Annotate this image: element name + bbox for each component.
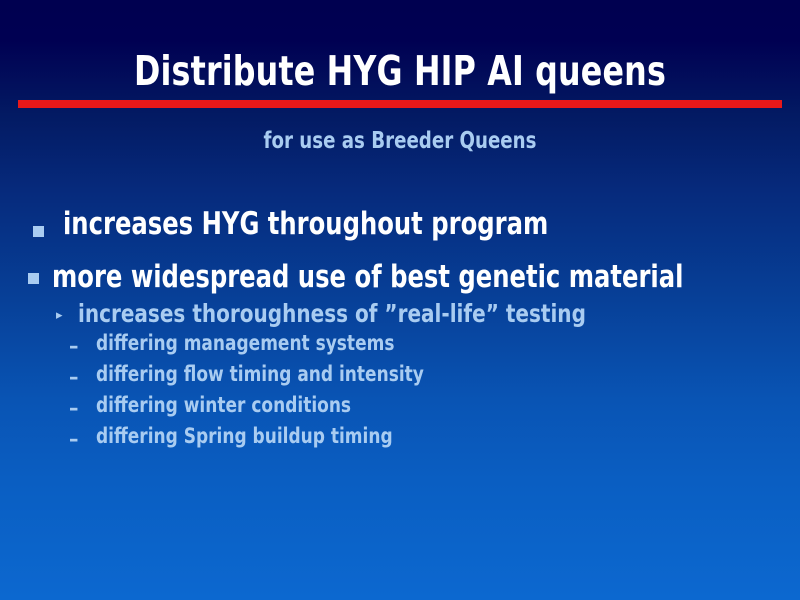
en-dash-bullet-icon: – [69,396,78,420]
en-dash-bullet-icon: – [69,427,78,451]
list-item-label: differing flow timing and intensity [96,362,424,386]
square-bullet-icon [28,273,39,284]
en-dash-bullet-icon: – [69,334,78,358]
page-title: Distribute HYG HIP AI queens [56,48,744,94]
list-item: ▸ increases thoroughness of ”real-life” … [0,299,800,331]
list-item: – differing management systems [0,331,800,362]
list-item: increases HYG throughout program [0,206,800,259]
square-bullet-icon [33,226,44,237]
slide-body-bullet-list: increases HYG throughout program more wi… [0,206,800,455]
presentation-slide: Distribute HYG HIP AI queens for use as … [0,0,800,600]
list-item-label: increases HYG throughout program [63,206,548,242]
list-item: – differing winter conditions [0,393,800,424]
list-item-label: more widespread use of best genetic mate… [52,259,683,295]
title-divider-rule [18,100,782,108]
en-dash-bullet-icon: – [69,365,78,389]
slide-title-area: Distribute HYG HIP AI queens [0,48,800,94]
list-item-label: differing winter conditions [96,393,351,417]
slide-subtitle-area: for use as Breeder Queens [0,128,800,155]
list-item-label: differing Spring buildup timing [96,424,393,448]
list-item: – differing Spring buildup timing [0,424,800,455]
list-item-label: increases thoroughness of ”real-life” te… [78,299,586,328]
list-item-label: differing management systems [96,331,394,355]
triangle-right-bullet-icon: ▸ [56,308,63,321]
slide-subtitle: for use as Breeder Queens [48,128,752,155]
list-item: – differing flow timing and intensity [0,362,800,393]
list-item: more widespread use of best genetic mate… [0,259,800,299]
